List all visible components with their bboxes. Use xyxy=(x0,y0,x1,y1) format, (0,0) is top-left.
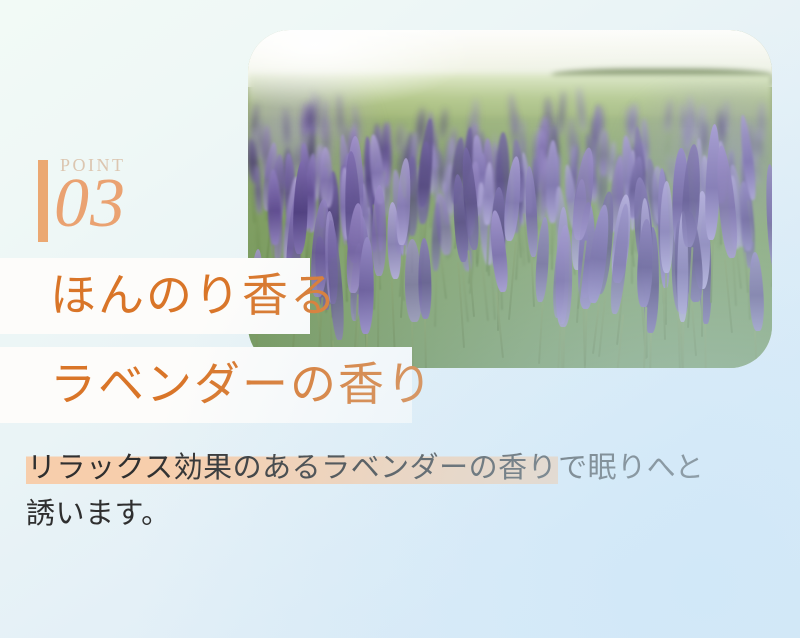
heading-line-1-text: ほんのり香る xyxy=(0,273,338,319)
body-description: リラックス効果のあるラベンダーの香りで眠りへと 誘います。 xyxy=(26,446,766,538)
body-line-2: 誘います。 xyxy=(26,492,766,538)
point-block: POINT 03 xyxy=(38,156,228,248)
promo-slide: POINT 03 ほんのり香る ラベンダーの香り リラックス効果のあるラベンダー… xyxy=(0,0,800,638)
body-line-1-rest: で眠りへと xyxy=(558,452,704,484)
body-line-1: リラックス効果のあるラベンダーの香りで眠りへと xyxy=(26,446,766,492)
photo-highlight-glow xyxy=(248,30,479,111)
heading-line-1: ほんのり香る xyxy=(0,258,310,334)
point-accent-bar xyxy=(38,160,48,242)
heading-line-2-text: ラベンダーの香り xyxy=(0,362,434,408)
heading-line-2: ラベンダーの香り xyxy=(0,347,412,423)
point-number: 03 xyxy=(54,169,126,239)
body-highlight-text: リラックス効果のあるラベンダーの香り xyxy=(26,452,558,484)
